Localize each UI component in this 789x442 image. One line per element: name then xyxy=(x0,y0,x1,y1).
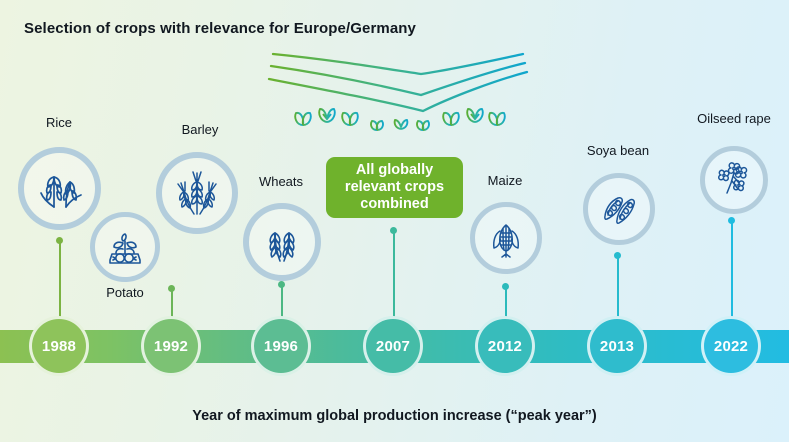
crop-label-maize: Maize xyxy=(465,173,545,188)
timeline-node-label: 2012 xyxy=(488,338,522,355)
timeline-node-label: 2013 xyxy=(600,338,634,355)
combined-crops-badge[interactable]: All globally relevant crops combined xyxy=(326,157,463,218)
crop-circle-oilseed-rape[interactable] xyxy=(700,146,768,214)
crop-label-potato: Potato xyxy=(85,285,165,300)
infographic-root: Selection of crops with relevance for Eu… xyxy=(0,0,789,442)
connector-dot-wheats xyxy=(278,281,285,288)
connector-oilseed-rape xyxy=(731,220,733,330)
timeline-node-1996[interactable]: 1996 xyxy=(251,316,311,376)
timeline-node-2022[interactable]: 2022 xyxy=(701,316,761,376)
connector-dot-rice xyxy=(56,237,63,244)
timeline-node-label: 2007 xyxy=(376,338,410,355)
potato-icon xyxy=(104,226,146,268)
timeline-node-1992[interactable]: 1992 xyxy=(141,316,201,376)
crop-label-barley: Barley xyxy=(160,122,240,137)
timeline-node-2013[interactable]: 2013 xyxy=(587,316,647,376)
crop-circle-barley[interactable] xyxy=(156,152,238,234)
crop-circle-maize[interactable] xyxy=(470,202,542,274)
soya-bean-icon xyxy=(598,188,640,230)
crop-circle-wheats[interactable] xyxy=(243,203,321,281)
barley-icon xyxy=(172,168,222,218)
field-illustration xyxy=(255,38,530,143)
connector-dot-combined xyxy=(390,227,397,234)
rice-icon xyxy=(36,165,84,213)
timeline-node-1988[interactable]: 1988 xyxy=(29,316,89,376)
wheat-icon xyxy=(259,219,305,265)
timeline-node-label: 1996 xyxy=(264,338,298,355)
combined-crops-badge-label: All globally relevant crops combined xyxy=(332,162,457,213)
crop-label-oilseed-rape: Oilseed rape xyxy=(688,111,780,126)
connector-dot-maize xyxy=(502,283,509,290)
crop-circle-soya-bean[interactable] xyxy=(583,173,655,245)
crop-label-soya-bean: Soya bean xyxy=(577,143,659,158)
crop-circle-rice[interactable] xyxy=(18,147,101,230)
page-title: Selection of crops with relevance for Eu… xyxy=(24,20,416,37)
connector-combined xyxy=(393,230,395,330)
timeline-node-label: 2022 xyxy=(714,338,748,355)
connector-dot-soya-bean xyxy=(614,252,621,259)
timeline-node-2007[interactable]: 2007 xyxy=(363,316,423,376)
crop-circle-potato[interactable] xyxy=(90,212,160,282)
maize-icon xyxy=(485,217,527,259)
timeline-node-2012[interactable]: 2012 xyxy=(475,316,535,376)
oilseed-rape-icon xyxy=(713,159,755,201)
crop-label-wheats: Wheats xyxy=(241,174,321,189)
crop-label-rice: Rice xyxy=(19,115,99,130)
timeline-node-label: 1992 xyxy=(154,338,188,355)
connector-dot-oilseed-rape xyxy=(728,217,735,224)
timeline-caption: Year of maximum global production increa… xyxy=(0,408,789,424)
timeline-node-label: 1988 xyxy=(42,338,76,355)
